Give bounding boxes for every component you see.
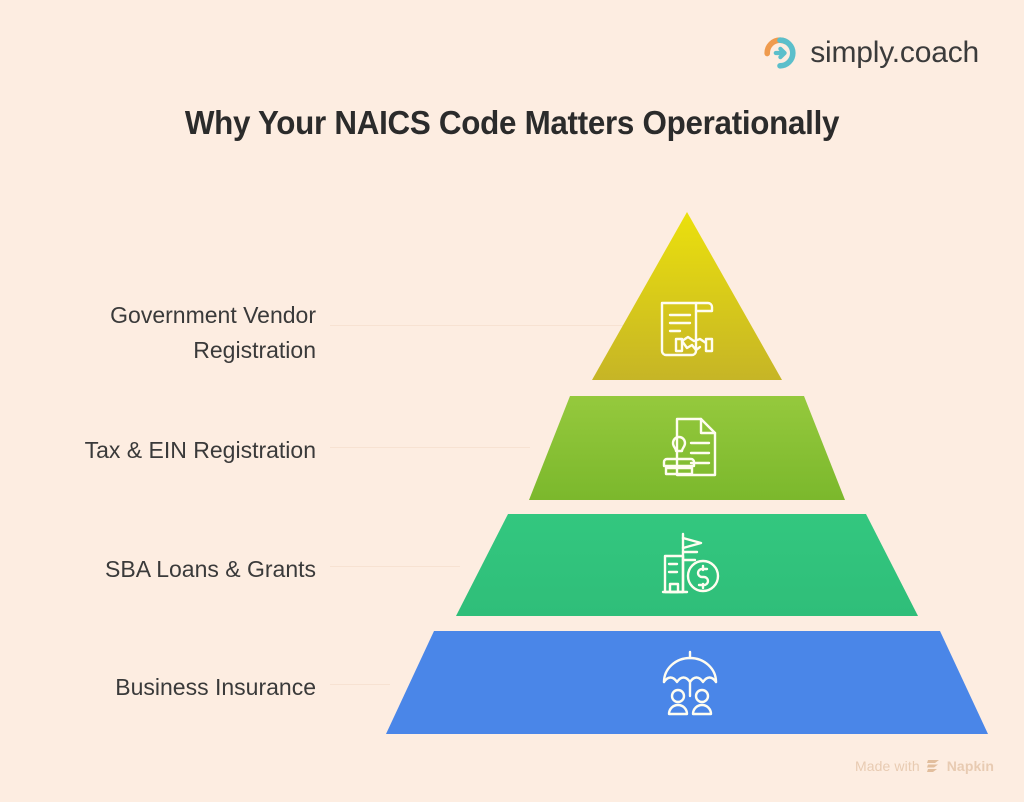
napkin-logo-icon [926, 759, 941, 773]
napkin-brand-label: Napkin [947, 758, 994, 774]
pyramid-label-1: Government Vendor Registration [20, 298, 316, 368]
pyramid-label-3: SBA Loans & Grants [20, 552, 316, 587]
napkin-watermark: Made with Napkin [855, 758, 994, 774]
building-dollar-icon [657, 530, 723, 600]
pyramid-label-2: Tax & EIN Registration [20, 433, 316, 468]
pyramid-label-4: Business Insurance [20, 670, 316, 705]
contract-handshake-icon [654, 295, 722, 367]
document-stamp-icon [655, 413, 723, 485]
made-with-label: Made with [855, 758, 920, 774]
umbrella-people-icon [657, 648, 723, 718]
